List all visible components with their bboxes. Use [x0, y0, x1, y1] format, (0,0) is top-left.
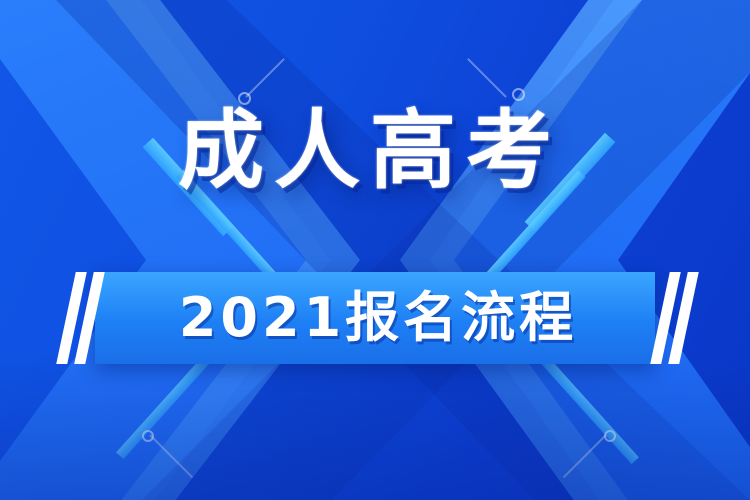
circuit-dot-icon — [512, 88, 525, 101]
sub-title: 2021报名流程 — [173, 291, 577, 345]
main-title: 成人高考 — [178, 108, 572, 194]
circuit-line — [467, 58, 507, 98]
main-title-container: 成人高考 — [0, 108, 750, 194]
bottom-shadow-overlay — [0, 350, 750, 500]
subtitle-banner-bar: 2021报名流程 — [95, 272, 655, 364]
promotional-banner: 成人高考 2021报名流程 — [0, 0, 750, 500]
circuit-line — [245, 58, 285, 98]
